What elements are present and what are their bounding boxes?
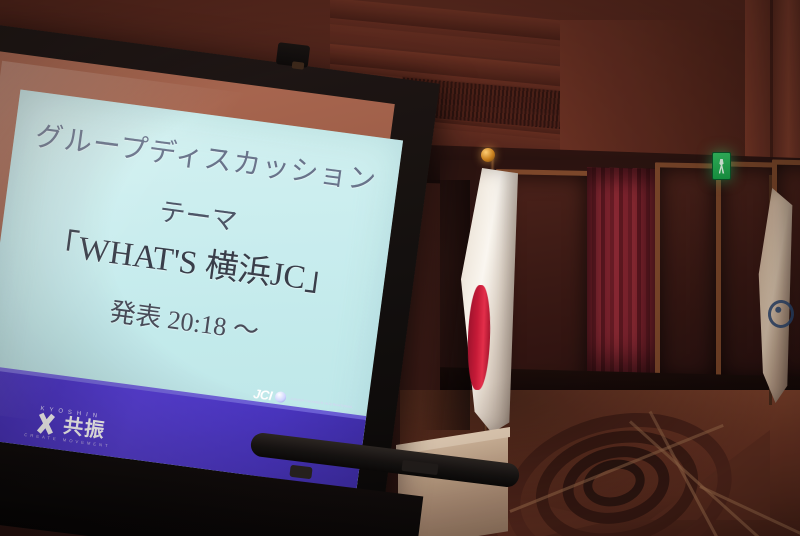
flag-finial-icon	[481, 148, 495, 162]
camera-lens-icon	[292, 61, 305, 69]
screen-inner-border: グループディスカッション テーマ 「WHAT'S 横浜JC」 発表 20:18 …	[0, 51, 395, 471]
slide-canvas: グループディスカッション テーマ 「WHAT'S 横浜JC」 発表 20:18 …	[0, 89, 403, 489]
wall-panel	[655, 162, 721, 385]
jci-globe-icon	[274, 391, 286, 403]
red-curtain	[587, 167, 655, 386]
exit-sign-icon	[712, 152, 731, 180]
roller-knob	[289, 465, 312, 480]
photo-scene: グループディスカッション テーマ 「WHAT'S 横浜JC」 発表 20:18 …	[0, 0, 800, 536]
kyoshin-logo: KYOSHIN 共振 CREATE MOVEMENT	[0, 400, 146, 453]
kyoshin-mark-icon	[32, 412, 60, 435]
